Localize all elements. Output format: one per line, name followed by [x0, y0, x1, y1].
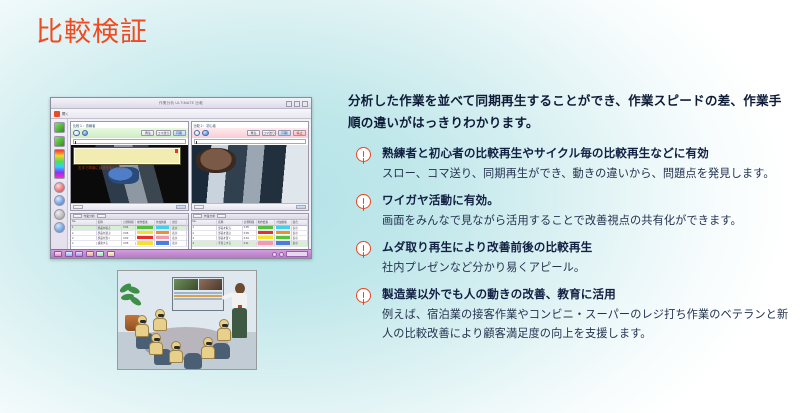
cell-ratio: 表示: [171, 236, 187, 241]
page-title: 比較検証: [36, 16, 148, 48]
col-no: No.: [192, 220, 218, 225]
cell-name: 部品を運ぶ: [97, 231, 123, 236]
cell-time: 0:06: [122, 231, 136, 235]
statusbar-save-icon[interactable]: [65, 251, 73, 257]
timeline-slider-right[interactable]: [194, 139, 307, 144]
info-gray-icon[interactable]: [54, 209, 65, 220]
swatch-green: [258, 226, 274, 229]
app-screenshot-window: 作業分析 ULTIMATE 比較 開く: [50, 97, 312, 259]
cell-ratio: 表示: [292, 236, 308, 241]
sync-button-right[interactable]: 同期: [278, 130, 291, 137]
col-no: No.: [71, 220, 97, 225]
record-red-icon[interactable]: [54, 182, 65, 193]
attendee: [152, 309, 168, 331]
app-title-text: 作業分析 ULTIMATE 比較: [51, 101, 311, 106]
swatch-yellow: [137, 241, 153, 244]
swatch-orange: [276, 231, 289, 234]
bullet-body: 例えば、宿泊業の接客作業やコンビニ・スーパーのレジ打ち作業のベテランと新人の比較…: [382, 306, 792, 345]
maximize-icon[interactable]: [294, 101, 300, 107]
video-pane-right[interactable]: 比較２：初心者 再生 コマ送り 同期 停止: [191, 121, 310, 211]
statusbar-dot-2-icon[interactable]: [279, 252, 284, 257]
col-ratio: 割合: [292, 220, 308, 225]
attendee-body: [169, 350, 183, 363]
fullscreen-button-right[interactable]: [296, 205, 306, 210]
swatch-pink: [156, 236, 169, 239]
fullscreen-button-left[interactable]: [176, 205, 186, 210]
bullet-item: 熟練者と初心者の比較再生やサイクル毎の比較再生などに有効 スロー、コマ送り、同期…: [348, 146, 792, 184]
cell-no: 3: [192, 236, 218, 240]
cell-no: 2: [192, 231, 218, 235]
bullet-heading: 熟練者と初心者の比較再生やサイクル毎の比較再生などに有効: [382, 146, 792, 163]
col-time: 計測時間: [243, 220, 257, 225]
pause-icon[interactable]: [82, 130, 89, 137]
table-sort-icon-left[interactable]: [97, 214, 106, 218]
cell-name: 部品を取る: [97, 225, 123, 230]
timeline-slider-left[interactable]: [73, 139, 186, 144]
cell-value: [155, 241, 171, 246]
cell-ratio: 表示: [292, 231, 308, 236]
zoom-out-button-left[interactable]: [73, 205, 83, 210]
pause-icon-right[interactable]: [202, 130, 209, 137]
swatch-blue: [276, 241, 289, 244]
attendee: [168, 341, 184, 363]
minimize-icon[interactable]: [286, 101, 292, 107]
attendee-body: [135, 324, 149, 337]
bullet-heading: ワイガヤ活動に有効。: [382, 193, 792, 210]
bullet-item: 製造業以外でも人の動きの改善、教育に活用 例えば、宿泊業の接客作業やコンビニ・ス…: [348, 287, 792, 344]
settings-blue-icon[interactable]: [54, 195, 65, 206]
cell-time: 0:03: [122, 236, 136, 240]
statusbar-analyze-icon[interactable]: [75, 251, 83, 257]
col-value: 付加価値: [155, 220, 171, 225]
cell-name: 部品を取る: [217, 225, 243, 230]
exclamation-circle-icon: [356, 194, 371, 209]
swatch-yellow: [137, 231, 153, 234]
video-screen-right[interactable]: [192, 145, 309, 203]
bullet-item: ムダ取り再生により改善前後の比較再生 社内プレゼンなど分かり易くアピール。: [348, 240, 792, 278]
close-icon[interactable]: [302, 101, 308, 107]
table-row[interactable]: 4 手直しする 0:11 表示: [192, 241, 309, 246]
video-green-icon[interactable]: [54, 122, 65, 133]
cell-no: 2: [71, 231, 97, 235]
attendee-body: [201, 346, 215, 359]
exclamation-circle-icon: [356, 241, 371, 256]
bullet-body: スロー、コマ送り、同期再生ができ、動きの違いから、問題点を発見します。: [382, 165, 792, 184]
window-controls[interactable]: [286, 101, 308, 107]
bullet-body: 画面をみんなで見ながら活用することで改善視点の共有化ができます。: [382, 212, 792, 231]
video-screen-left[interactable]: 右手で同時に部品を取りにいく: [71, 145, 188, 203]
bullet-item: ワイガヤ活動に有効。 画面をみんなで見ながら活用することで改善視点の共有化ができ…: [348, 193, 792, 231]
col-name: 名称: [97, 220, 123, 225]
swatch-green: [137, 226, 153, 229]
swatch-pink: [258, 241, 274, 244]
video-pane-left[interactable]: 比較１：熟練者 再生 コマ送り 同期: [70, 121, 189, 211]
cell-ratio: 表示: [292, 241, 308, 246]
content-column: 分析した作業を並べて同期再生することができ、作業スピードの差、作業手順の違いがは…: [348, 90, 792, 354]
app-statusbar[interactable]: [51, 249, 311, 258]
table-toolbar-label-left: 作業分析: [84, 214, 95, 218]
cell-no: 1: [192, 226, 218, 230]
frame-step-button-right[interactable]: コマ送り: [262, 130, 276, 137]
annotation-text: 右手で同時に部品を取りにいく: [78, 165, 127, 170]
meeting-illustration: [117, 270, 257, 370]
play-blue-icon[interactable]: [54, 222, 65, 233]
col-element: 動作要素: [136, 220, 155, 225]
cell-ratio: 表示: [171, 241, 187, 246]
cell-value: [275, 241, 291, 246]
cell-name: 部品を運ぶ: [217, 231, 243, 236]
table-grid-left[interactable]: No. 名称 計測時間 動作要素 付加価値 割合 1 部品を取る 0:04: [71, 220, 188, 249]
table-sort-icon-right[interactable]: [217, 214, 226, 218]
zoom-out-button-right[interactable]: [194, 205, 204, 210]
cell-no: 4: [71, 242, 97, 246]
attendee: [200, 337, 216, 359]
col-ratio: 割合: [171, 220, 187, 225]
col-time: 計測時間: [122, 220, 136, 225]
app-main-area: 比較１：熟練者 再生 コマ送り 同期: [68, 119, 311, 258]
video-pane-left-toolbar[interactable]: 再生 コマ送り 同期: [71, 128, 188, 138]
exclamation-circle-icon: [356, 288, 371, 303]
statusbar-settings-icon[interactable]: [107, 251, 115, 257]
table-filter-icon-left[interactable]: [73, 214, 82, 218]
table-grid-right[interactable]: No. 名称 計測時間 動作要素 付加価値 割合 1 部品を取る 0:05: [192, 220, 309, 249]
swatch-cyan: [156, 226, 169, 229]
presenter-legs: [232, 308, 247, 338]
statusbar-compare-icon[interactable]: [86, 251, 94, 257]
video-pane-right-toolbar[interactable]: 再生 コマ送り 同期 停止: [192, 128, 309, 138]
table-toolbar-label-right: 作業分析: [204, 214, 215, 218]
swatch-red: [137, 236, 153, 239]
stop-button-right[interactable]: 停止: [293, 130, 306, 137]
annotation-box[interactable]: [73, 147, 180, 164]
swatch-yellow: [258, 236, 274, 239]
video-green-2-icon[interactable]: [54, 136, 65, 147]
app-body: 比較１：熟練者 再生 コマ送り 同期: [51, 119, 311, 258]
col-value: 付加価値: [275, 220, 291, 225]
swatch-cyan: [276, 226, 289, 229]
sync-button-left[interactable]: 同期: [173, 130, 186, 137]
video-statusrow-right[interactable]: [192, 203, 309, 210]
presentation-screen: [172, 277, 224, 311]
slide-root: 比較検証 作業分析 ULTIMATE 比較 開く: [0, 0, 800, 413]
table-filter-icon-right[interactable]: [193, 214, 202, 218]
video-compare-row: 比較１：熟練者 再生 コマ送り 同期: [68, 119, 311, 213]
bullet-heading: 製造業以外でも人の動きの改善、教育に活用: [382, 287, 792, 304]
play-icon-right[interactable]: [194, 130, 201, 137]
cell-time: 0:11: [243, 242, 257, 246]
screen-video-row: [173, 278, 223, 291]
swatch-green: [276, 236, 289, 239]
col-name: 名称: [217, 220, 243, 225]
cell-ratio: 表示: [292, 225, 308, 230]
video-statusrow-left[interactable]: [71, 203, 188, 210]
annotation-close-icon[interactable]: [175, 149, 179, 153]
frame-step-button-left[interactable]: コマ送り: [156, 130, 170, 137]
cell-time: 0:04: [243, 236, 257, 240]
swatch-blue: [156, 241, 169, 244]
app-sidebar[interactable]: [51, 119, 68, 258]
cell-ratio: 表示: [171, 231, 187, 236]
cell-time: 0:04: [122, 226, 136, 230]
cell-name: 部品を置く: [217, 236, 243, 241]
color-palette-icon[interactable]: [54, 149, 65, 179]
play-button-right[interactable]: 再生: [247, 130, 260, 137]
cell-time: 0:05: [122, 242, 136, 246]
play-icon[interactable]: [73, 130, 80, 137]
cell-name: 部品を置く: [97, 236, 123, 241]
cell-element: [136, 241, 155, 246]
intro-paragraph: 分析した作業を並べて同期再生することができ、作業スピードの差、作業手順の違いがは…: [348, 90, 792, 134]
cell-element: [257, 241, 276, 246]
app-menubar[interactable]: 開く: [51, 109, 311, 119]
statusbar-exit-button[interactable]: [286, 251, 308, 257]
attendee: [148, 333, 164, 355]
cell-no: 1: [71, 226, 97, 230]
statusbar-dot-1-icon[interactable]: [272, 252, 277, 257]
statusbar-export-icon[interactable]: [96, 251, 104, 257]
cell-time: 0:09: [243, 231, 257, 235]
statusbar-right-group[interactable]: [272, 251, 308, 257]
play-button-left[interactable]: 再生: [141, 130, 154, 137]
cell-name: 検査する: [97, 241, 123, 246]
app-titlebar: 作業分析 ULTIMATE 比較: [51, 98, 311, 109]
cell-name: 手直しする: [217, 241, 243, 246]
bullet-heading: ムダ取り再生により改善前後の比較再生: [382, 240, 792, 257]
cell-no: 4: [192, 242, 218, 246]
video-frame-right: [192, 145, 309, 203]
presenter: [228, 283, 252, 341]
table-row[interactable]: 4 検査する 0:05 表示: [71, 241, 188, 246]
swatch-orange: [156, 231, 169, 234]
menu-open-label[interactable]: 開く: [62, 111, 69, 116]
statusbar-open-icon[interactable]: [54, 251, 62, 257]
cell-time: 0:05: [243, 226, 257, 230]
cell-no: 3: [71, 236, 97, 240]
attendee-body: [149, 342, 163, 355]
cell-ratio: 表示: [171, 225, 187, 230]
attendee-body: [153, 318, 167, 331]
open-folder-icon[interactable]: [54, 111, 60, 117]
bullet-body: 社内プレゼンなど分かり易くアピール。: [382, 259, 792, 278]
bullet-list: 熟練者と初心者の比較再生やサイクル毎の比較再生などに有効 スロー、コマ送り、同期…: [348, 146, 792, 345]
exclamation-circle-icon: [356, 147, 371, 162]
screen-table-rows: [173, 291, 223, 301]
swatch-red: [258, 231, 274, 234]
col-element: 動作要素: [257, 220, 276, 225]
